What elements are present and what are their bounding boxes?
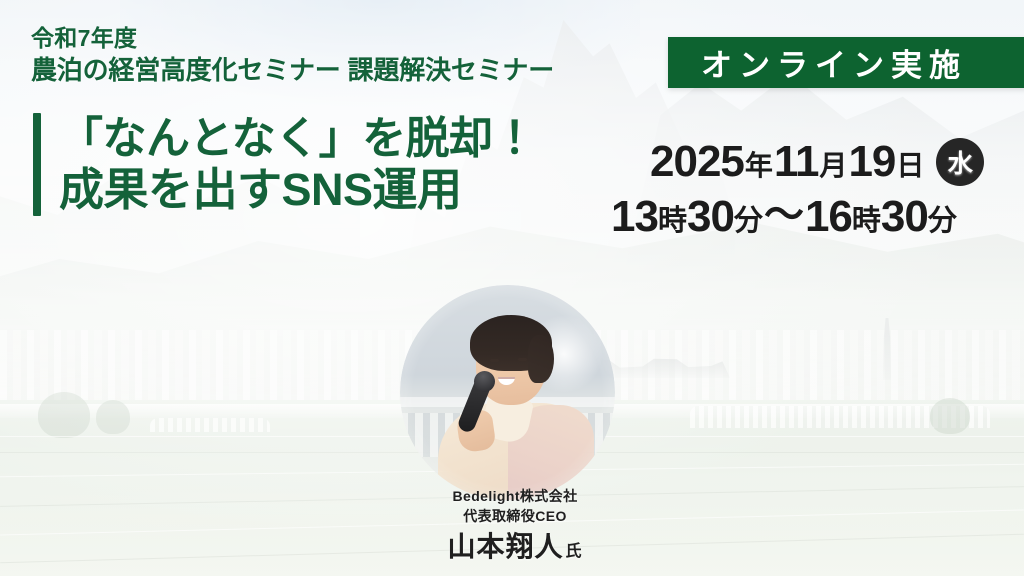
end-hour-unit: 時 [852, 207, 881, 236]
time-range-mark: 〜 [764, 195, 804, 235]
kicker-text: 令和7年度 農泊の経営高度化セミナー 課題解決セミナー [31, 23, 671, 88]
speaker-eye-right [518, 358, 527, 361]
time-row: 13 時 30 分 〜 16 時 30 分 [600, 195, 1024, 239]
start-hour: 13 [611, 195, 658, 239]
month-value: 11 [774, 140, 819, 184]
month-unit: 月 [819, 152, 847, 180]
seminar-banner: 令和7年度 農泊の経営高度化セミナー 課題解決セミナー オンライン実施 「なんと… [0, 0, 1024, 576]
online-badge-label: オンライン実施 [668, 40, 967, 85]
speaker-name-suffix: 氏 [566, 543, 583, 560]
speaker-role: 代表取締役CEO [365, 507, 665, 527]
speaker-hair-side [528, 335, 554, 383]
start-minute-unit: 分 [734, 207, 763, 236]
headline-line-1: 「なんとなく」を脱却！ [59, 113, 536, 164]
kicker-line-1: 令和7年度 [31, 23, 671, 53]
start-minute: 30 [687, 195, 734, 239]
speaker-name: 山本翔人 [447, 531, 563, 562]
end-minute-unit: 分 [928, 207, 957, 236]
headline-line-2: 成果を出すSNS運用 [59, 164, 536, 216]
speaker-caption: Bedelight株式会社 代表取締役CEO 山本翔人氏 [365, 487, 665, 563]
day-value: 19 [848, 140, 895, 184]
headline: 「なんとなく」を脱却！ 成果を出すSNS運用 [59, 113, 536, 216]
headline-block: 「なんとなく」を脱却！ 成果を出すSNS運用 [33, 113, 536, 216]
date-row: 2025 年 11 月 19 日 水 [600, 138, 1024, 186]
speaker-name-line: 山本翔人氏 [365, 532, 665, 563]
start-hour-unit: 時 [658, 207, 687, 236]
schedule-block: 2025 年 11 月 19 日 水 13 時 30 分 〜 16 時 30 分 [600, 138, 1024, 239]
kicker-line-2: 農泊の経営高度化セミナー 課題解決セミナー [31, 53, 671, 87]
end-minute: 30 [881, 195, 928, 239]
accent-bar [33, 113, 41, 216]
speaker-organization: Bedelight株式会社 [365, 487, 665, 507]
end-hour: 16 [805, 195, 852, 239]
online-badge: オンライン実施 [668, 37, 1024, 88]
year-value: 2025 [650, 140, 744, 184]
day-of-week-badge: 水 [936, 138, 984, 186]
year-unit: 年 [745, 152, 773, 180]
content-layer: 令和7年度 農泊の経営高度化セミナー 課題解決セミナー オンライン実施 「なんと… [0, 0, 1024, 576]
day-unit: 日 [896, 152, 924, 180]
speaker-photo [400, 285, 615, 500]
speaker-eye-left [490, 359, 499, 362]
